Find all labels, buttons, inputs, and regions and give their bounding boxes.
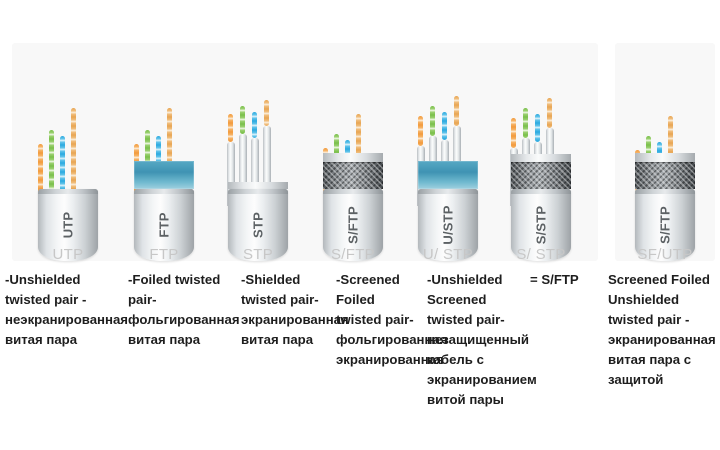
caption-stp: STP bbox=[210, 246, 306, 263]
caption-u-stp: U/ STP bbox=[400, 246, 496, 263]
wire-blue bbox=[252, 112, 257, 138]
figure-canvas: UTP UTP FTP FTP bbox=[0, 0, 720, 450]
caption-s-stp: S/ STP bbox=[493, 246, 589, 263]
wire-green bbox=[523, 108, 528, 138]
jacket-rim bbox=[511, 189, 571, 194]
jacket-label: S/STP bbox=[534, 206, 549, 245]
description-u-stp: -Unshielded Screened twisted pair-незащи… bbox=[427, 270, 527, 410]
braid-shield-band bbox=[635, 162, 695, 189]
wire-blue bbox=[442, 112, 447, 140]
jacket-rim bbox=[418, 189, 478, 194]
wire-green bbox=[430, 106, 435, 136]
shield-collar-band bbox=[323, 153, 383, 162]
shield-collar-band bbox=[511, 154, 571, 162]
wire-tan bbox=[454, 96, 459, 126]
jacket-label: U/STP bbox=[441, 205, 456, 244]
foil-shield-band bbox=[134, 161, 194, 189]
description-sf-utp: Screened Foiled Unshielded twisted pair … bbox=[608, 270, 716, 390]
wire-green bbox=[240, 106, 245, 134]
braid-shield-band bbox=[511, 162, 571, 189]
jacket-label: S/FTP bbox=[658, 206, 673, 244]
description-ftp: -Foiled twisted pair-фольгированная вита… bbox=[128, 270, 238, 350]
cable-diagram-ftp: FTP bbox=[116, 43, 212, 261]
braid-shield-band bbox=[323, 162, 383, 189]
description-utp: -Unshielded twisted pair - неэкранирован… bbox=[5, 270, 125, 350]
wire-blue bbox=[535, 114, 540, 142]
jacket-label: FTP bbox=[157, 212, 172, 237]
jacket-label: UTP bbox=[61, 212, 76, 239]
cable-diagram-stp: STP bbox=[210, 43, 306, 261]
wire-tan bbox=[264, 100, 269, 126]
shield-collar-band bbox=[228, 182, 288, 189]
caption-utp: UTP bbox=[20, 246, 116, 263]
cable-diagram-s-ftp: S/FTP bbox=[305, 43, 401, 261]
shield-collar-band bbox=[635, 153, 695, 162]
foil-shield-band bbox=[418, 161, 478, 189]
jacket-rim bbox=[38, 189, 98, 194]
caption-sf-utp: SF/UTP bbox=[617, 246, 713, 263]
wire-orange bbox=[418, 116, 423, 146]
caption-s-ftp: S/FTP bbox=[305, 246, 401, 263]
caption-ftp: FTP bbox=[116, 246, 212, 263]
description-s-ftp: -Screened Foiled twisted pair-фольгирова… bbox=[336, 270, 422, 370]
jacket-rim bbox=[134, 189, 194, 194]
jacket-rim bbox=[323, 189, 383, 194]
wire-orange bbox=[511, 118, 516, 148]
jacket-label: S/FTP bbox=[346, 206, 361, 244]
description-s-stp: = S/FTP bbox=[530, 270, 602, 290]
cable-diagram-sf-utp: S/FTP bbox=[617, 43, 713, 261]
wire-tan bbox=[547, 98, 552, 128]
cable-diagram-utp: UTP bbox=[20, 43, 116, 261]
jacket-rim bbox=[228, 189, 288, 194]
wire-orange bbox=[228, 114, 233, 142]
cable-diagram-s-stp: S/STP bbox=[493, 43, 589, 261]
description-stp: -Shielded twisted pair-экранированная ви… bbox=[241, 270, 333, 350]
jacket-rim bbox=[635, 189, 695, 194]
jacket-label: STP bbox=[251, 212, 266, 238]
cable-diagram-u-stp: U/STP bbox=[400, 43, 496, 261]
